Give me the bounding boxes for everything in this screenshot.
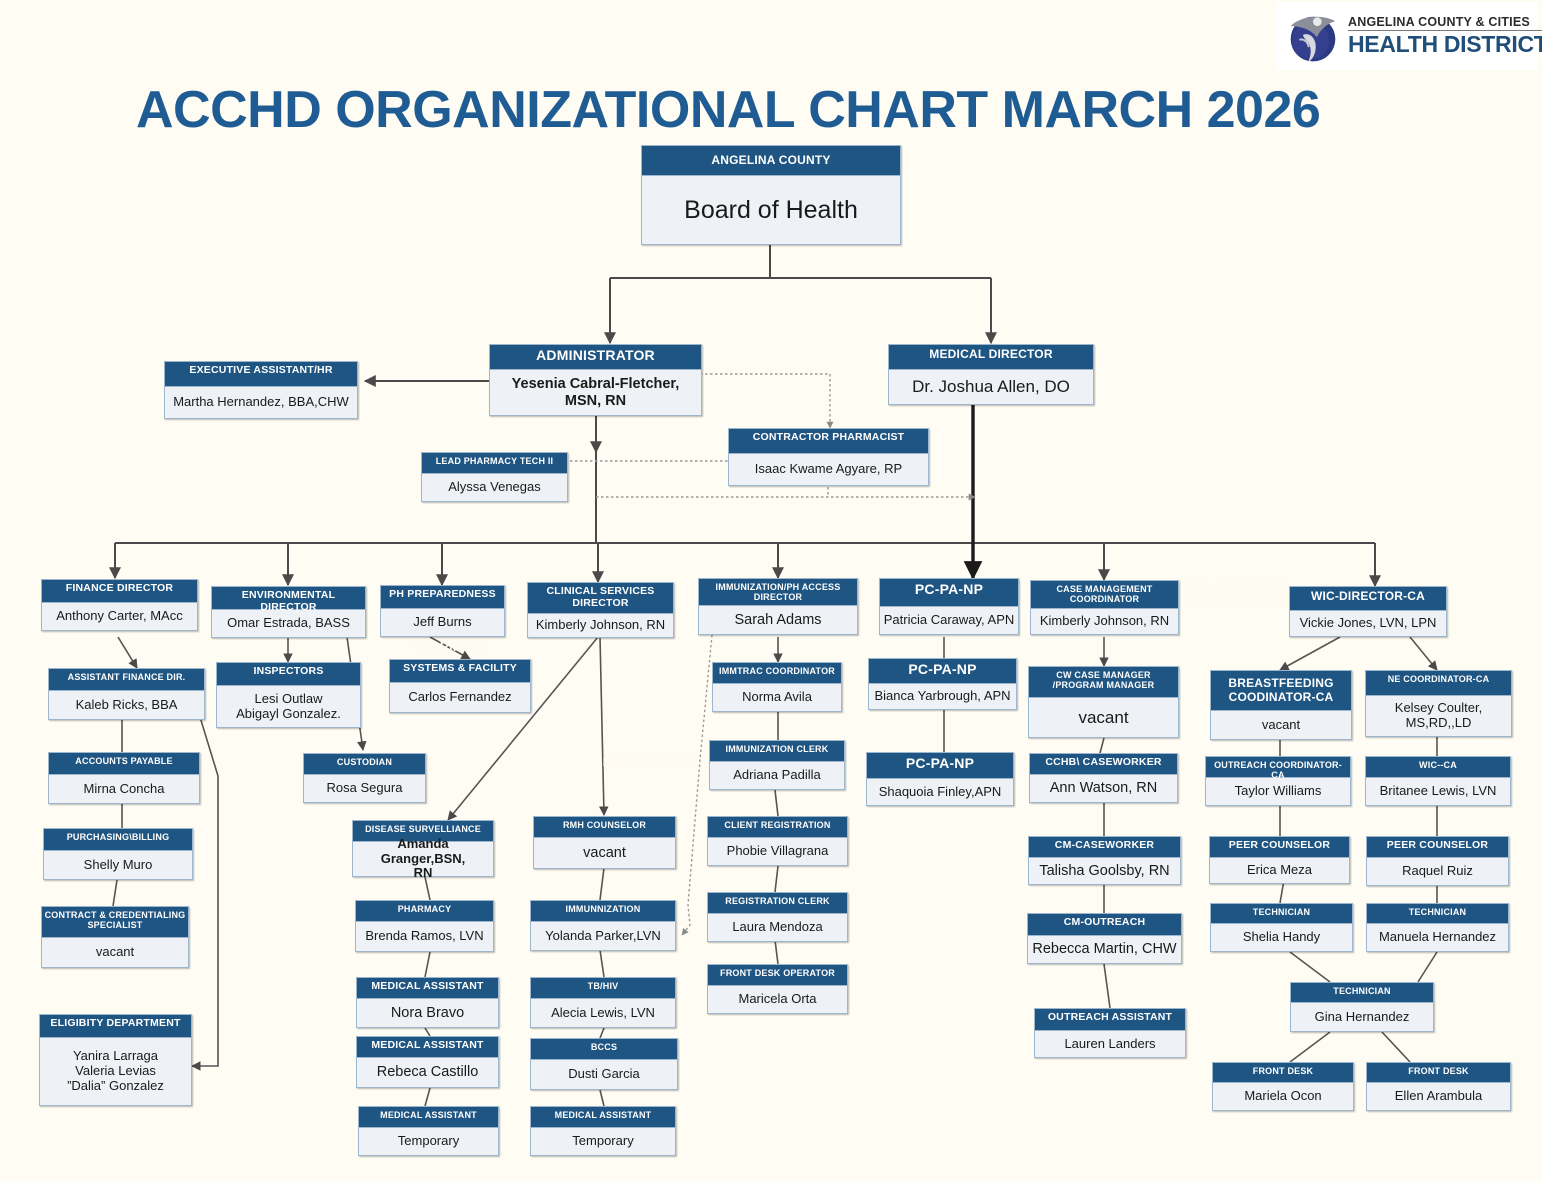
node-wic-ca[interactable]: WIC--CA Britanee Lewis, LVN xyxy=(1365,756,1511,806)
node-body: Vickie Jones, LVN, LPN xyxy=(1290,611,1446,636)
node-header: ASSISTANT FINANCE DIR. xyxy=(49,669,204,691)
node-medical-assistant-2[interactable]: MEDICAL ASSISTANT Rebeca Castillo xyxy=(356,1036,499,1088)
node-purchasing-billing[interactable]: PURCHASING\BILLING Shelly Muro xyxy=(43,828,193,880)
node-body: vacant xyxy=(534,838,675,868)
node-rmh-counselor[interactable]: RMH COUNSELOR vacant xyxy=(533,816,676,869)
node-body: Erica Meza xyxy=(1210,858,1349,883)
node-body: Yesenia Cabral-Fletcher, MSN, RN xyxy=(490,370,701,415)
node-cw-case-manager[interactable]: CW CASE MANAGER /PROGRAM MANAGER vacant xyxy=(1028,666,1179,738)
node-executive-assistant-hr[interactable]: EXECUTIVE ASSISTANT/HR Martha Hernandez,… xyxy=(164,361,358,419)
node-header: EXECUTIVE ASSISTANT/HR xyxy=(165,362,357,387)
node-body: Lauren Landers xyxy=(1035,1031,1185,1057)
node-body: Adriana Padilla xyxy=(710,762,844,789)
node-front-desk-1[interactable]: FRONT DESK Mariela Ocon xyxy=(1212,1062,1354,1111)
node-body: Maricela Orta xyxy=(708,986,847,1013)
node-body: Ellen Arambula xyxy=(1367,1083,1510,1110)
node-header: ADMINISTRATOR xyxy=(490,345,701,370)
node-body: Rebeca Castillo xyxy=(357,1058,498,1087)
node-inspectors[interactable]: INSPECTORS Lesi Outlaw Abigayl Gonzalez. xyxy=(216,662,361,728)
node-outreach-coordinator-ca[interactable]: OUTREACH COORDINATOR-CA Taylor Williams xyxy=(1205,756,1351,806)
node-contractor-pharmacist[interactable]: CONTRACTOR PHARMACIST Isaac Kwame Agyare… xyxy=(728,428,929,486)
node-wic-director-ca[interactable]: WIC-DIRECTOR-CA Vickie Jones, LVN, LPN xyxy=(1289,586,1447,637)
node-header: ELIGIBITY DEPARTMENT xyxy=(40,1015,191,1038)
node-peer-counselor-1[interactable]: PEER COUNSELOR Erica Meza xyxy=(1209,836,1350,884)
node-header: TECHNICIAN xyxy=(1367,904,1508,924)
node-body: Lesi Outlaw Abigayl Gonzalez. xyxy=(217,686,360,727)
node-finance-director[interactable]: FINANCE DIRECTOR Anthony Carter, MAcc xyxy=(41,579,198,631)
node-header: OUTREACH COORDINATOR-CA xyxy=(1206,757,1350,778)
node-header: IMMUNIZATION/PH ACCESS DIRECTOR xyxy=(699,579,857,606)
node-header: OUTREACH ASSISTANT xyxy=(1035,1009,1185,1031)
node-body: Nora Bravo xyxy=(357,999,498,1027)
node-body: Alyssa Venegas xyxy=(422,474,567,501)
node-body: Kaleb Ricks, BBA xyxy=(49,691,204,719)
node-body: Mariela Ocon xyxy=(1213,1083,1353,1110)
node-immunization-clerk[interactable]: IMMUNIZATION CLERK Adriana Padilla xyxy=(709,740,845,790)
node-breastfeeding-coordinator-ca[interactable]: BREASTFEEDING COODINATOR-CA vacant xyxy=(1210,670,1352,740)
node-outreach-assistant[interactable]: OUTREACH ASSISTANT Lauren Landers xyxy=(1034,1008,1186,1058)
node-body: Manuela Hernandez xyxy=(1367,924,1508,951)
node-header: PC-PA-NP xyxy=(869,659,1016,684)
node-body: Board of Health xyxy=(642,176,900,244)
node-immunnization[interactable]: IMMUNNIZATION Yolanda Parker,LVN xyxy=(530,900,676,951)
node-header: PEER COUNSELOR xyxy=(1367,837,1508,858)
node-body: Gina Hernandez xyxy=(1291,1003,1433,1031)
node-header: MEDICAL ASSISTANT xyxy=(359,1107,498,1128)
node-body: vacant xyxy=(1029,698,1178,737)
node-body: Temporary xyxy=(359,1128,498,1155)
node-header: CONTRACTOR PHARMACIST xyxy=(729,429,928,454)
node-body: Brenda Ramos, LVN xyxy=(356,922,493,951)
node-header: FRONT DESK xyxy=(1367,1063,1510,1083)
node-body: Shaquoia Finley,APN xyxy=(867,779,1013,805)
node-header: BCCS xyxy=(531,1039,677,1060)
node-tb-hiv[interactable]: TB/HIV Alecia Lewis, LVN xyxy=(530,977,676,1028)
node-body: Carlos Fernandez xyxy=(390,683,530,712)
node-body: Alecia Lewis, LVN xyxy=(531,999,675,1027)
node-body: Omar Estrada, BASS xyxy=(212,610,365,637)
node-body: Bianca Yarbrough, APN xyxy=(869,684,1016,709)
node-header: FINANCE DIRECTOR xyxy=(42,580,197,603)
node-header: WIC-DIRECTOR-CA xyxy=(1290,587,1446,611)
node-header: IMMUNIZATION CLERK xyxy=(710,741,844,762)
node-medical-assistant-1[interactable]: MEDICAL ASSISTANT Nora Bravo xyxy=(356,977,499,1028)
node-body: vacant xyxy=(42,938,188,967)
node-header: MEDICAL DIRECTOR xyxy=(889,345,1093,370)
node-body: Temporary xyxy=(531,1128,675,1155)
node-body: Rebecca Martin, CHW xyxy=(1028,936,1181,963)
node-body: Kimberly Johnson, RN xyxy=(528,614,673,637)
node-board-of-health[interactable]: ANGELINA COUNTY Board of Health xyxy=(641,145,901,245)
node-body: Yanira Larraga Valeria Levias ”Dalia” Go… xyxy=(40,1038,191,1105)
node-body: Martha Hernandez, BBA,CHW xyxy=(165,387,357,418)
node-contract-credentialing-specialist[interactable]: CONTRACT & CREDENTIALING SPECIALIST vaca… xyxy=(41,906,189,968)
node-cm-caseworker[interactable]: CM-CASEWORKER Talisha Goolsby, RN xyxy=(1028,836,1181,885)
node-header: CLIENT REGISTRATION xyxy=(708,817,847,838)
node-clinical-services-director[interactable]: CLINICAL SERVICES DIRECTOR Kimberly John… xyxy=(527,582,674,638)
node-cchb-caseworker[interactable]: CCHB\ CASEWORKER Ann Watson, RN xyxy=(1029,753,1178,803)
node-medical-assistant-3[interactable]: MEDICAL ASSISTANT Temporary xyxy=(358,1106,499,1156)
node-header: CUSTODIAN xyxy=(304,754,425,775)
node-eligibity-department[interactable]: ELIGIBITY DEPARTMENT Yanira Larraga Vale… xyxy=(39,1014,192,1106)
node-header: PEER COUNSELOR xyxy=(1210,837,1349,858)
node-header: ANGELINA COUNTY xyxy=(642,146,900,176)
node-body: Raquel Ruiz xyxy=(1367,858,1508,885)
node-cm-outreach[interactable]: CM-OUTREACH Rebecca Martin, CHW xyxy=(1027,913,1182,964)
node-body: Anthony Carter, MAcc xyxy=(42,603,197,630)
node-assistant-finance-dir[interactable]: ASSISTANT FINANCE DIR. Kaleb Ricks, BBA xyxy=(48,668,205,720)
node-body: Rosa Segura xyxy=(304,775,425,802)
node-body: Isaac Kwame Agyare, RP xyxy=(729,454,928,485)
node-environmental-director[interactable]: ENVIRONMENTAL DIRECTOR Omar Estrada, BAS… xyxy=(211,586,366,638)
node-body: Britanee Lewis, LVN xyxy=(1366,778,1510,805)
node-case-management-coordinator[interactable]: CASE MANAGEMENT COORDINATOR Kimberly Joh… xyxy=(1030,580,1179,635)
node-body: Yolanda Parker,LVN xyxy=(531,922,675,950)
node-ne-coordinator-ca[interactable]: NE COORDINATOR-CA Kelsey Coulter, MS,RD,… xyxy=(1365,670,1512,737)
node-bccs[interactable]: BCCS Dusti Garcia xyxy=(530,1038,678,1090)
node-header: PC-PA-NP xyxy=(880,579,1018,607)
node-ph-preparedness[interactable]: PH PREPAREDNESS Jeff Burns xyxy=(380,585,505,637)
node-header: LEAD PHARMACY TECH II xyxy=(422,453,567,474)
node-header: PC-PA-NP xyxy=(867,753,1013,779)
node-body: Dr. Joshua Allen, DO xyxy=(889,370,1093,404)
node-header: TECHNICIAN xyxy=(1291,983,1433,1003)
node-header: NE COORDINATOR-CA xyxy=(1366,671,1511,696)
node-registration-clerk[interactable]: REGISTRATION CLERK Laura Mendoza xyxy=(707,892,848,942)
node-header: CW CASE MANAGER /PROGRAM MANAGER xyxy=(1029,667,1178,698)
node-header: TECHNICIAN xyxy=(1211,904,1352,924)
node-pharmacy[interactable]: PHARMACY Brenda Ramos, LVN xyxy=(355,900,494,952)
node-body: Mirna Concha xyxy=(49,775,199,803)
node-body: Norma Avila xyxy=(713,684,841,711)
node-front-desk-2[interactable]: FRONT DESK Ellen Arambula xyxy=(1366,1062,1511,1111)
ghost-label-pharmacy: PHARMACY xyxy=(360,640,540,654)
node-header: CM-OUTREACH xyxy=(1028,914,1181,936)
node-body: Phobie Villagrana xyxy=(708,838,847,865)
node-disease-surveillance[interactable]: DISEASE SURVELLIANCE Amanda Granger,BSN,… xyxy=(352,820,494,877)
node-header: RMH COUNSELOR xyxy=(534,817,675,838)
node-header: WIC--CA xyxy=(1366,757,1510,778)
node-medical-director[interactable]: MEDICAL DIRECTOR Dr. Joshua Allen, DO xyxy=(888,344,1094,405)
node-accounts-payable[interactable]: ACCOUNTS PAYABLE Mirna Concha xyxy=(48,752,200,804)
node-header: PURCHASING\BILLING xyxy=(44,829,192,851)
node-header: ENVIRONMENTAL DIRECTOR xyxy=(212,587,365,610)
node-body: Dusti Garcia xyxy=(531,1060,677,1089)
node-body: Talisha Goolsby, RN xyxy=(1029,858,1180,884)
node-header: SYSTEMS & FACILITY xyxy=(390,660,530,683)
node-body: Kimberly Johnson, RN xyxy=(1031,609,1178,634)
node-header: MEDICAL ASSISTANT xyxy=(357,978,498,999)
node-pc-pa-np-1[interactable]: PC-PA-NP Patricia Caraway, APN xyxy=(879,578,1019,635)
node-technician-2[interactable]: TECHNICIAN Manuela Hernandez xyxy=(1366,903,1509,952)
node-body: Kelsey Coulter, MS,RD,,LD xyxy=(1366,696,1511,736)
org-chart-canvas: ANGELINA COUNTY & CITIES HEALTH DISTRICT… xyxy=(0,0,1542,1181)
node-immunization-ph-access-director[interactable]: IMMUNIZATION/PH ACCESS DIRECTOR Sarah Ad… xyxy=(698,578,858,635)
node-header: FRONT DESK xyxy=(1213,1063,1353,1083)
node-administrator[interactable]: ADMINISTRATOR Yesenia Cabral-Fletcher, M… xyxy=(489,344,702,416)
node-technician-1[interactable]: TECHNICIAN Shelia Handy xyxy=(1210,903,1353,952)
node-body: Taylor Williams xyxy=(1206,778,1350,805)
node-header: IMMUNNIZATION xyxy=(531,901,675,922)
node-immtrac-coordinator[interactable]: IMMTRAC COORDINATOR Norma Avila xyxy=(712,662,842,712)
node-header: CASE MANAGEMENT COORDINATOR xyxy=(1031,581,1178,609)
node-body: Amanda Granger,BSN, RN xyxy=(353,842,493,876)
node-header: CONTRACT & CREDENTIALING SPECIALIST xyxy=(42,907,188,938)
node-header: MEDICAL ASSISTANT xyxy=(531,1107,675,1128)
node-peer-counselor-2[interactable]: PEER COUNSELOR Raquel Ruiz xyxy=(1366,836,1509,886)
node-lead-pharmacy-tech[interactable]: LEAD PHARMACY TECH II Alyssa Venegas xyxy=(421,452,568,502)
node-pc-pa-np-2[interactable]: PC-PA-NP Bianca Yarbrough, APN xyxy=(868,658,1017,710)
node-body: Sarah Adams xyxy=(699,606,857,634)
node-body: Shelia Handy xyxy=(1211,924,1352,951)
node-header: FRONT DESK OPERATOR xyxy=(708,965,847,986)
node-header: CM-CASEWORKER xyxy=(1029,837,1180,858)
node-body: vacant xyxy=(1211,711,1351,739)
node-technician-3[interactable]: TECHNICIAN Gina Hernandez xyxy=(1290,982,1434,1032)
node-body: Laura Mendoza xyxy=(708,914,847,941)
node-body: Shelly Muro xyxy=(44,851,192,879)
node-body: Jeff Burns xyxy=(381,609,504,636)
node-header: CCHB\ CASEWORKER xyxy=(1030,754,1177,775)
node-header: CLINICAL SERVICES DIRECTOR xyxy=(528,583,673,614)
node-header: PHARMACY xyxy=(356,901,493,922)
node-header: BREASTFEEDING COODINATOR-CA xyxy=(1211,671,1351,711)
node-body: Patricia Caraway, APN xyxy=(880,607,1018,634)
node-pc-pa-np-3[interactable]: PC-PA-NP Shaquoia Finley,APN xyxy=(866,752,1014,806)
node-custodian[interactable]: CUSTODIAN Rosa Segura xyxy=(303,753,426,803)
node-body: Ann Watson, RN xyxy=(1030,775,1177,802)
node-header: INSPECTORS xyxy=(217,663,360,686)
node-front-desk-operator[interactable]: FRONT DESK OPERATOR Maricela Orta xyxy=(707,964,848,1014)
node-header: PH PREPAREDNESS xyxy=(381,586,504,609)
node-header: REGISTRATION CLERK xyxy=(708,893,847,914)
node-header: IMMTRAC COORDINATOR xyxy=(713,663,841,684)
node-client-registration[interactable]: CLIENT REGISTRATION Phobie Villagrana xyxy=(707,816,848,866)
node-medical-assistant-4[interactable]: MEDICAL ASSISTANT Temporary xyxy=(530,1106,676,1156)
node-header: MEDICAL ASSISTANT xyxy=(357,1037,498,1058)
node-header: ACCOUNTS PAYABLE xyxy=(49,753,199,775)
node-systems-facility[interactable]: SYSTEMS & FACILITY Carlos Fernandez xyxy=(389,659,531,713)
node-header: TB/HIV xyxy=(531,978,675,999)
